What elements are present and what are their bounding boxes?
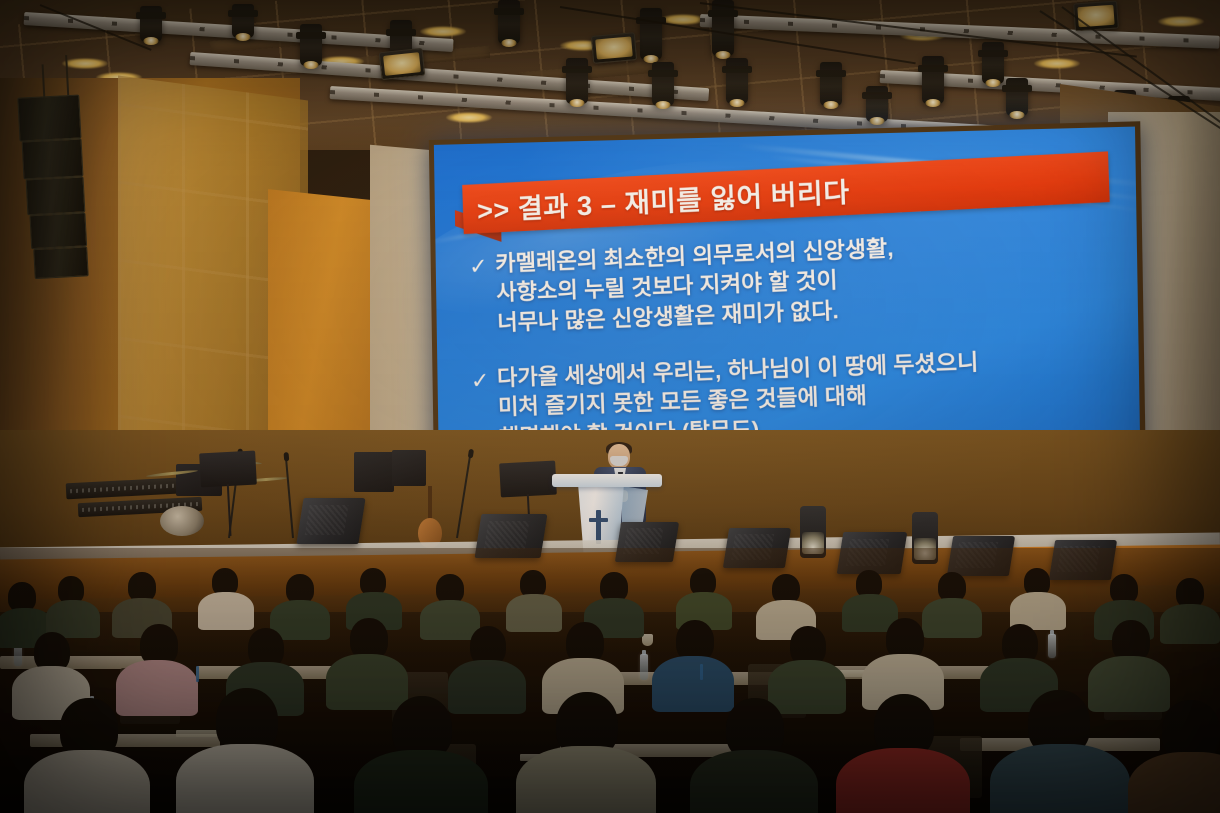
audience-shoulders: [506, 594, 562, 632]
downlight: [1034, 58, 1080, 69]
audience-area: [0, 548, 1220, 813]
moving-head-light: [140, 6, 162, 42]
moving-head-light: [982, 42, 1004, 84]
audience-shoulders: [448, 660, 526, 714]
audience-shoulders: [652, 656, 734, 712]
audience-shoulders: [24, 750, 150, 813]
downlight: [420, 26, 466, 37]
audience-shoulders: [990, 744, 1130, 813]
audience-shoulders: [116, 660, 198, 716]
audience-shoulders: [690, 750, 818, 813]
moving-head-light: [232, 4, 254, 38]
water-bottle: [1048, 634, 1056, 658]
music-stand: [199, 451, 257, 488]
moving-head-light: [652, 62, 674, 106]
downlight: [1158, 16, 1204, 27]
flood-light: [591, 32, 637, 64]
flood-light: [1073, 0, 1119, 31]
moving-head-light: [726, 58, 748, 104]
moving-head-light: [1006, 78, 1028, 116]
checkmark-icon: ✓: [461, 249, 498, 338]
audience-shoulders: [354, 750, 488, 813]
audience-shoulders: [768, 660, 846, 714]
lanyard: [196, 666, 199, 682]
audience-shoulders: [922, 598, 982, 638]
slide-bullet-item: ✓ 카멜레온의 최소한의 의무로서의 신앙생활, 사향소의 누릴 것보다 지켜야…: [461, 224, 1116, 338]
downlight: [62, 58, 108, 69]
conference-hall-photo: >> 결과 3 – 재미를 잃어 버리다 ✓ 카멜레온의 최소한의 의무로서의 …: [0, 0, 1220, 813]
audience-shoulders: [836, 748, 970, 813]
stage-monitor-wedge: [296, 498, 365, 544]
moving-head-light: [300, 24, 322, 66]
moving-head-light: [922, 56, 944, 104]
audience-shoulders: [1088, 656, 1170, 712]
stage-amplifier: [392, 450, 426, 486]
stage-amplifier: [354, 452, 394, 492]
line-array-speaker: [17, 95, 88, 280]
podium-lectern-top: [552, 474, 662, 487]
slide-bullet-text: 카멜레온의 최소한의 의무로서의 신앙생활, 사향소의 누릴 것보다 지켜야 할…: [495, 233, 896, 337]
lanyard: [700, 664, 703, 680]
moving-head-light: [712, 0, 734, 56]
moving-head-light: [566, 58, 588, 104]
moving-head-light: [866, 86, 888, 122]
acoustic-guitar: [418, 486, 442, 548]
music-stand: [499, 461, 557, 498]
paper-cup: [642, 634, 653, 646]
audience-shoulders: [1160, 604, 1220, 644]
audience-shoulders: [326, 654, 408, 710]
flood-light: [379, 48, 426, 80]
audience-shoulders: [420, 600, 480, 640]
audience-shoulders: [198, 592, 254, 630]
downlight: [446, 112, 492, 123]
moving-head-light: [498, 0, 520, 44]
cross-icon: [596, 510, 601, 544]
bass-drum: [160, 506, 204, 536]
water-bottle: [640, 654, 648, 680]
audience-shoulders: [176, 744, 314, 813]
audience-shoulders: [516, 746, 656, 813]
moving-head-light: [640, 8, 662, 60]
moving-head-light: [820, 62, 842, 106]
